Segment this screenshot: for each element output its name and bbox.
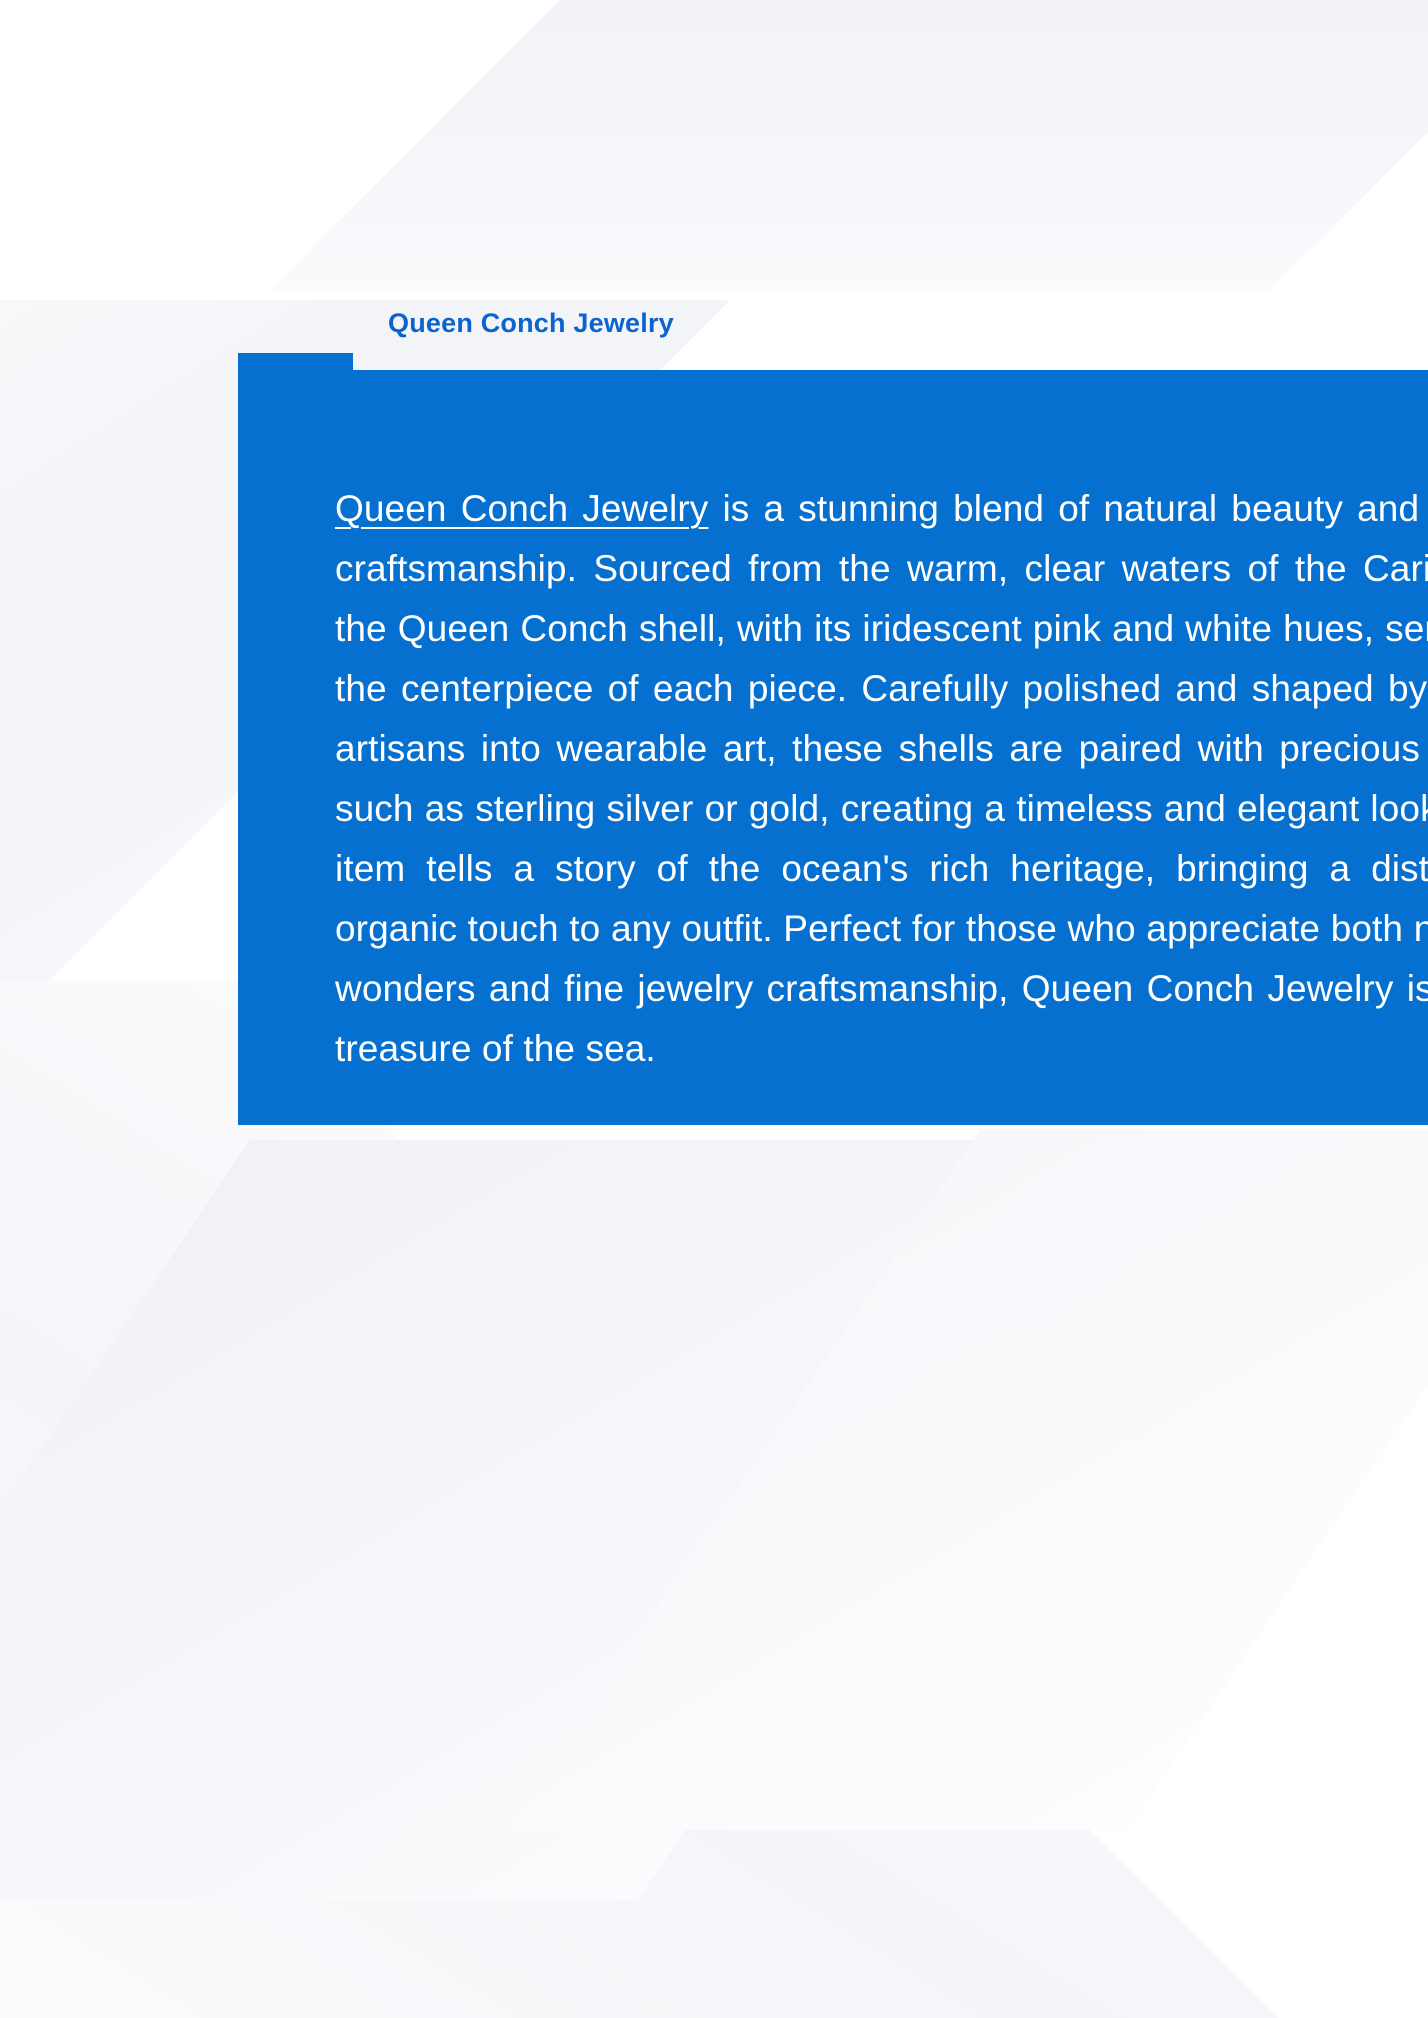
card-body-text: is a stunning blend of natural beauty an… [335,488,1428,1069]
page-root: Queen Conch Jewelry Queen Conch Jewelry … [0,0,1428,2018]
content-card: Queen Conch Jewelry is a stunning blend … [238,353,1428,1125]
card-paragraph: Queen Conch Jewelry is a stunning blend … [335,479,1428,1079]
watermark-bottom-band-2 [508,1130,1428,1830]
card-body: Queen Conch Jewelry is a stunning blend … [238,370,1428,1125]
watermark-bottom-band [0,1140,1150,1900]
page-title: Queen Conch Jewelry [388,308,674,339]
queen-conch-jewelry-link[interactable]: Queen Conch Jewelry [335,488,708,529]
watermark-top-band [270,0,1428,290]
watermark-chevron-lower [0,980,1340,2018]
